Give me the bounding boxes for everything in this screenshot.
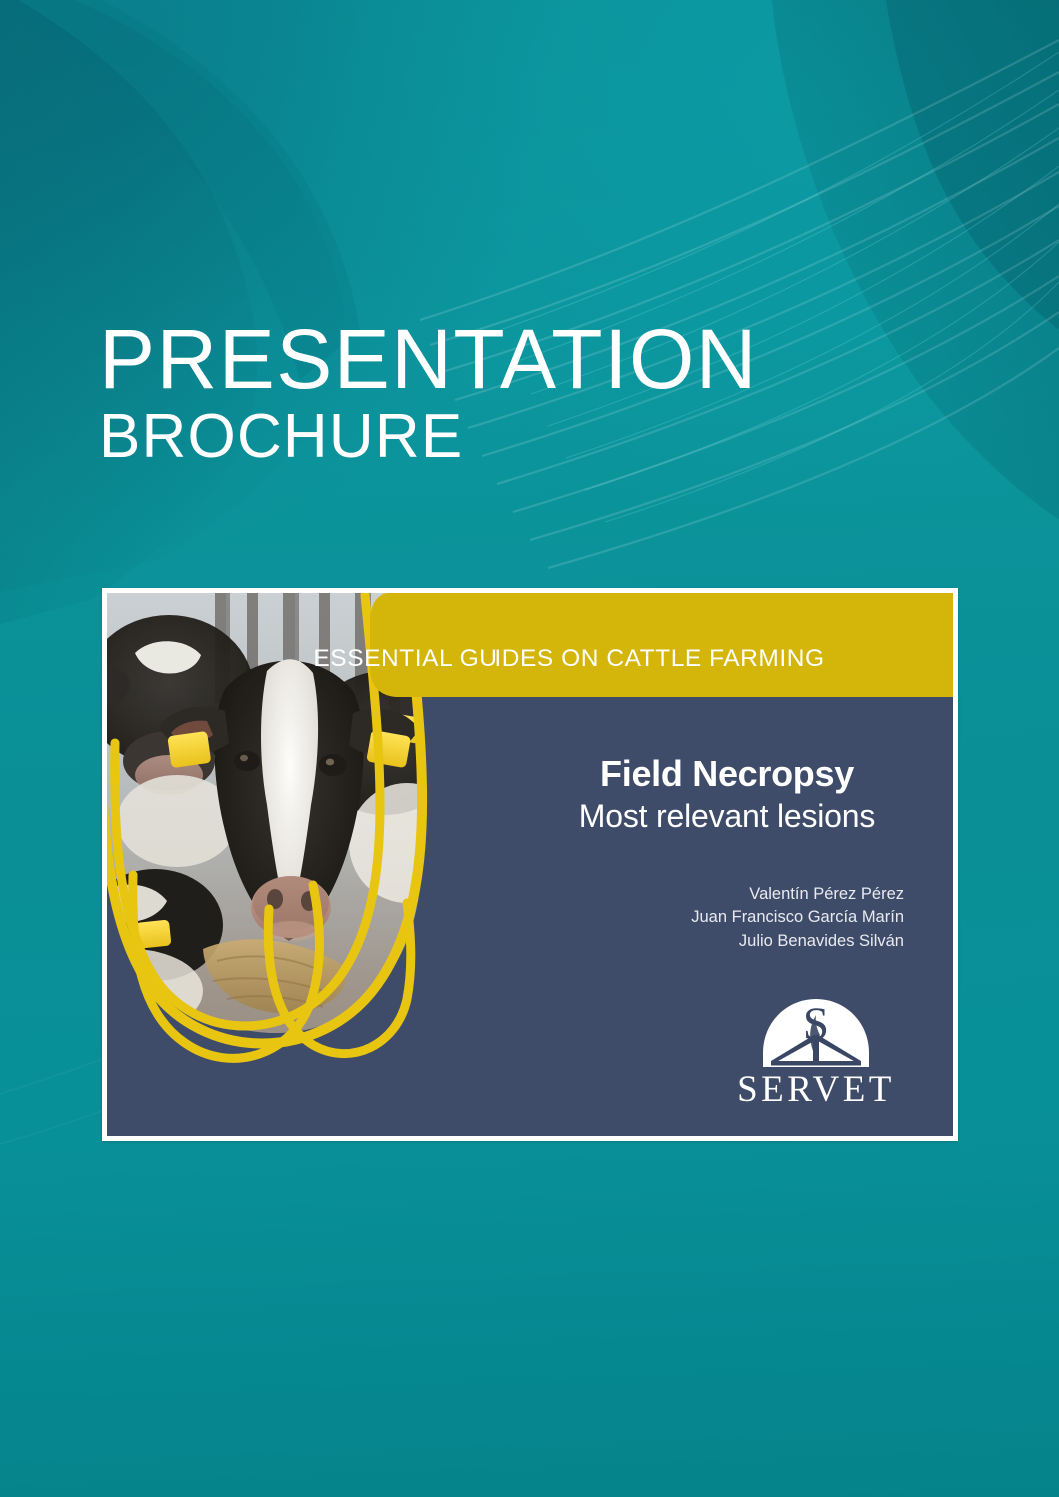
author-name: Julio Benavides Silván xyxy=(507,930,904,953)
book-cover[interactable]: ESSENTIAL GUIDES ON CATTLE FARMING Field… xyxy=(102,588,958,1141)
book-subtitle: Most relevant lesions xyxy=(507,799,947,835)
title-main: PRESENTATION xyxy=(99,318,899,400)
author-name: Valentín Pérez Pérez xyxy=(507,883,904,906)
servet-logo: S SERVET xyxy=(731,995,901,1108)
svg-text:S: S xyxy=(803,998,829,1050)
book-cover-inner: ESSENTIAL GUIDES ON CATTLE FARMING Field… xyxy=(107,593,953,1136)
title-sub: BROCHURE xyxy=(99,406,899,468)
author-list: Valentín Pérez Pérez Juan Francisco Garc… xyxy=(507,883,947,953)
cover-title-group: Field Necropsy Most relevant lesions xyxy=(507,755,947,835)
brochure-page: PRESENTATION BROCHURE xyxy=(0,0,1059,1497)
cover-banner-background xyxy=(370,593,953,697)
page-title: PRESENTATION BROCHURE xyxy=(99,318,899,468)
servet-wordmark: SERVET xyxy=(731,1071,901,1108)
author-name: Juan Francisco García Marín xyxy=(507,906,904,929)
servet-dome-icon: S xyxy=(757,995,875,1069)
book-title: Field Necropsy xyxy=(507,755,947,794)
